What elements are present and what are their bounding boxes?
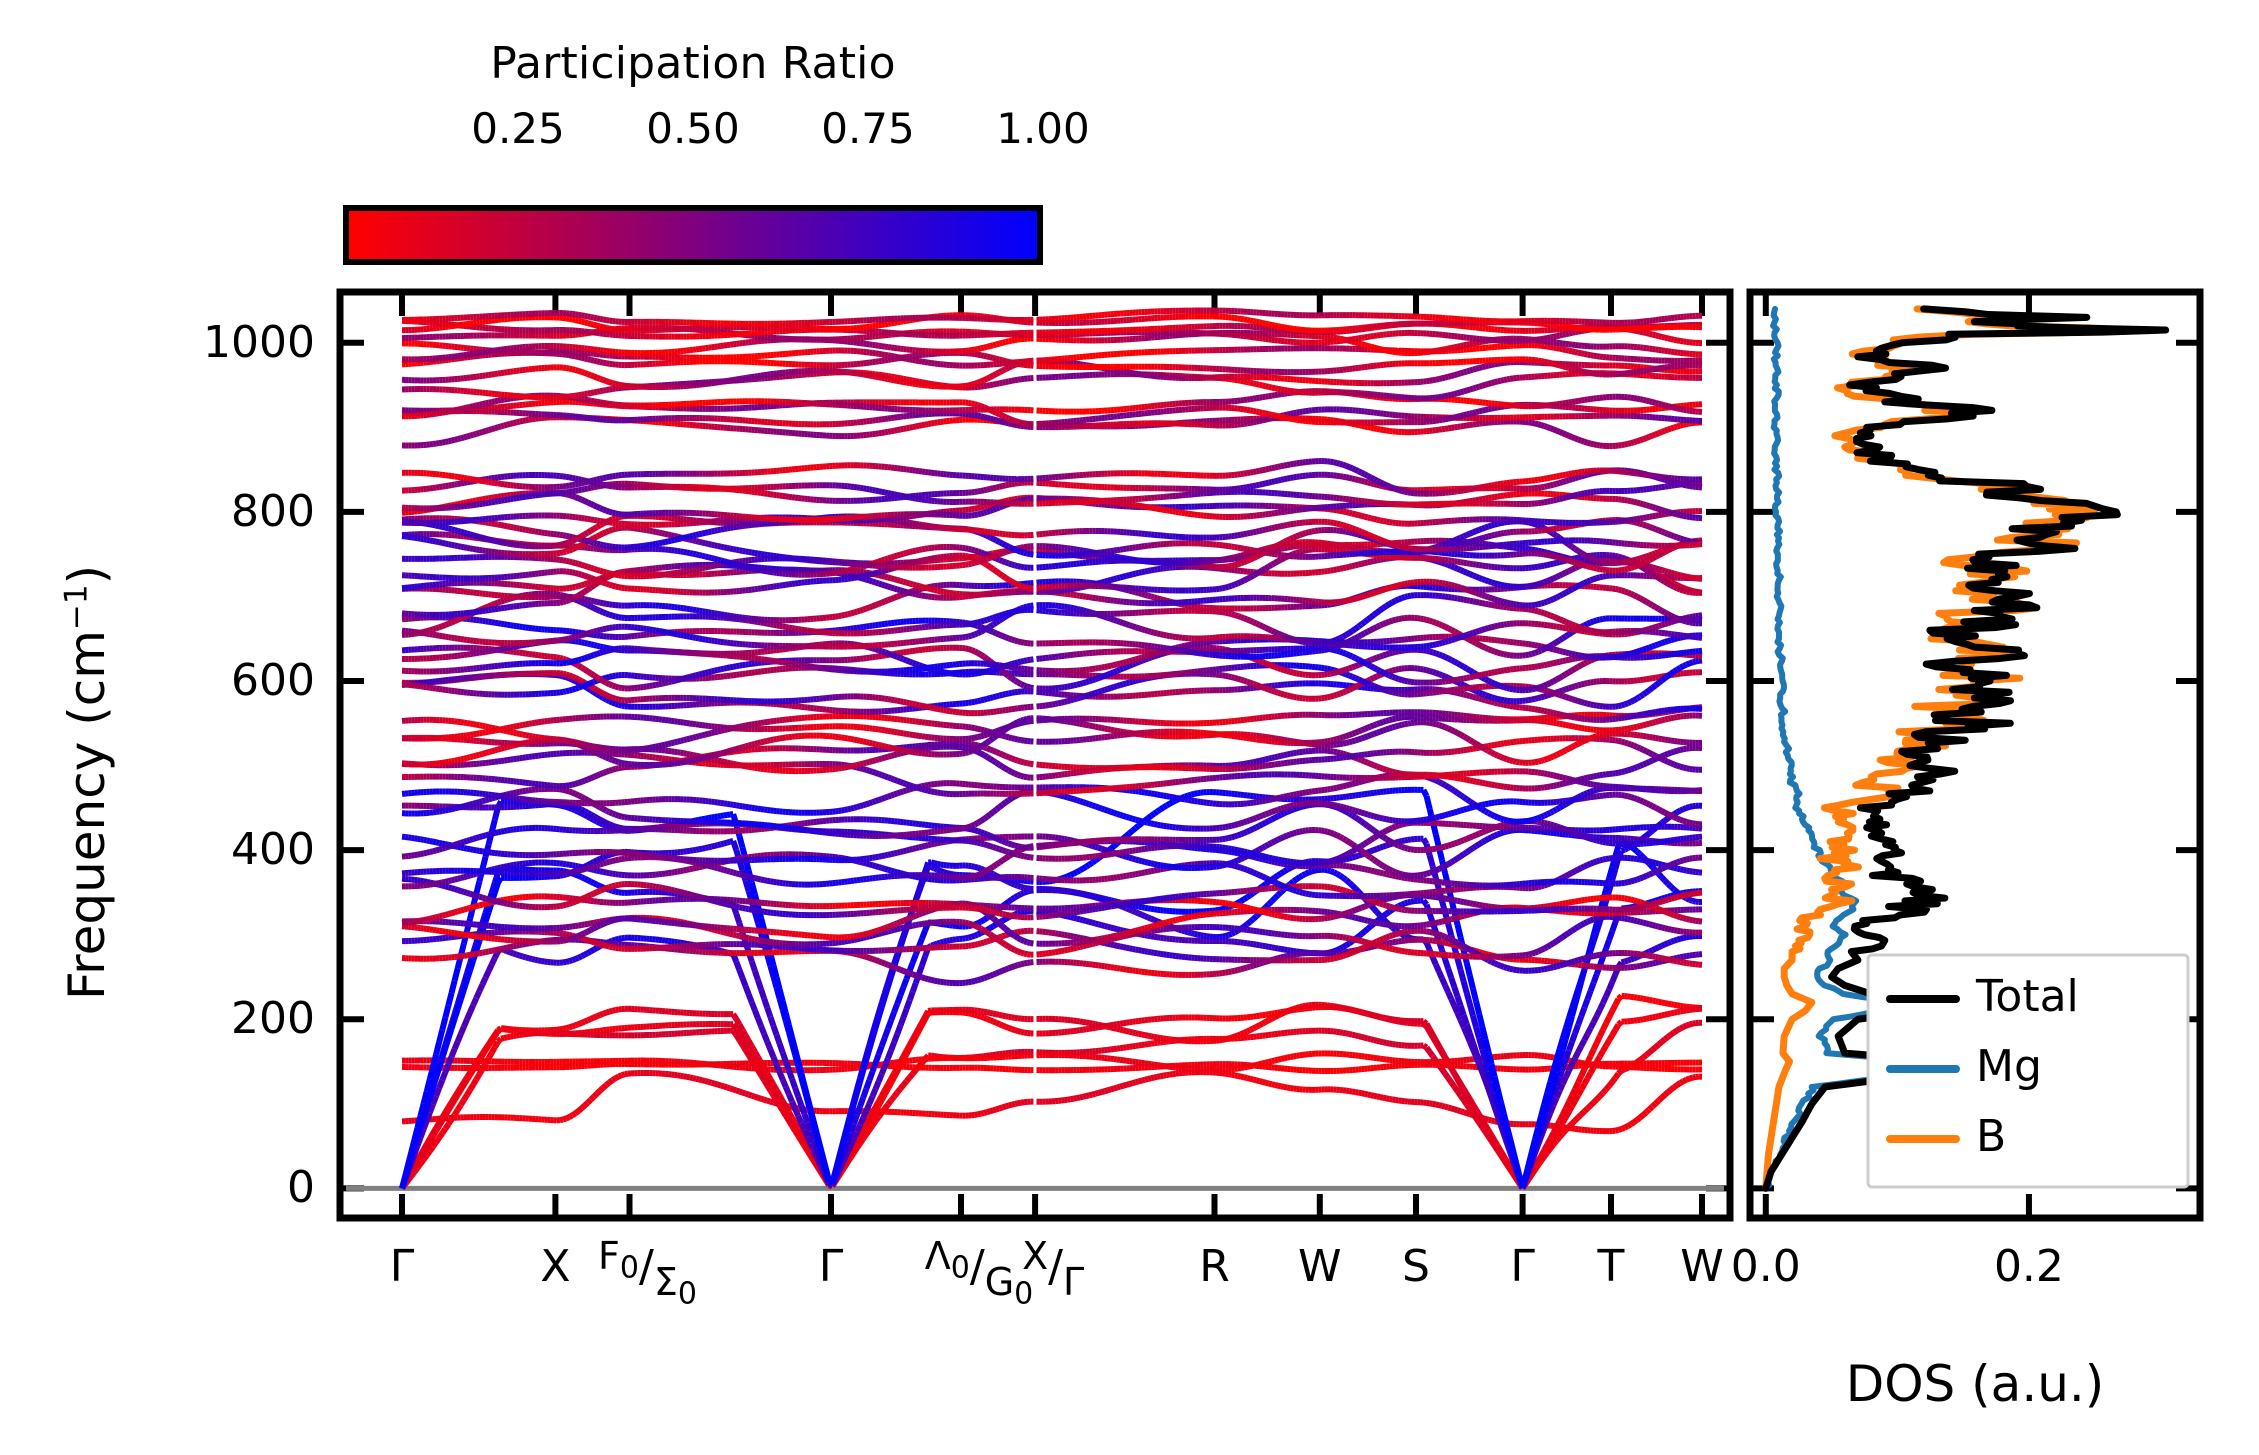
legend-label-mg[interactable]: Mg [1976, 1045, 2042, 1089]
figure-root: Participation Ratio 0.250.500.751.00 Fre… [0, 0, 2259, 1455]
band-structure-lines [402, 311, 1702, 1189]
legend-label-b[interactable]: B [1976, 1115, 2006, 1159]
plot-canvas [0, 0, 2259, 1455]
legend-label-total[interactable]: Total [1976, 975, 2079, 1019]
